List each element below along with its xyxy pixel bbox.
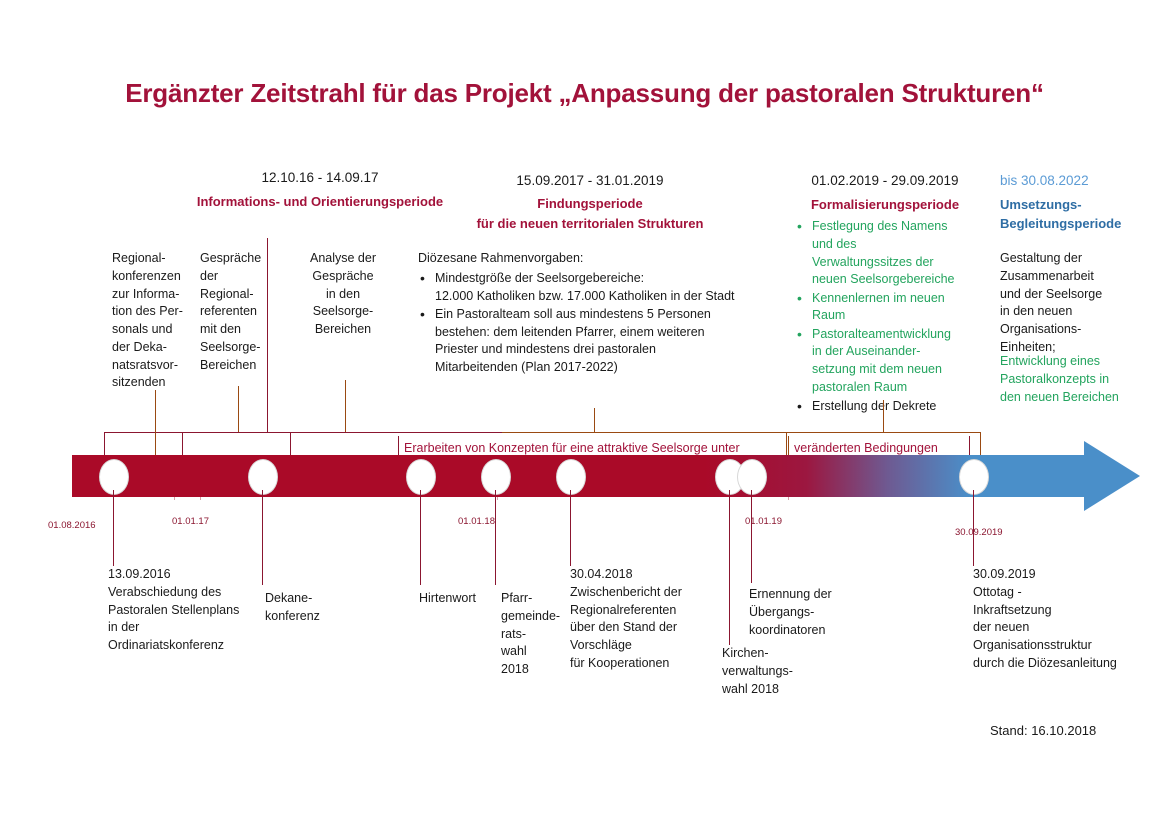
- rahmenvorgaben-bullet-list: Mindestgröße der Seelsorgebereiche: 12.0…: [418, 270, 788, 377]
- riser-analyse: [345, 380, 346, 432]
- riser-informationsperiode: [267, 238, 268, 432]
- riser-rahmenvorgaben: [594, 408, 595, 432]
- column-umsetzung-green: Entwicklung eines Pastoralkonzepts in de…: [1000, 353, 1165, 406]
- leader-uebergangskoordinatoren: [751, 490, 752, 583]
- period-name-umsetzungsperiode-line1: Umsetzungs-: [1000, 197, 1160, 214]
- axis-tick-2019-09-30: 30.09.2019: [955, 527, 1003, 538]
- period-name-umsetzungsperiode-line2: Begleitungsperiode: [1000, 216, 1169, 233]
- leader-ottotag: [973, 490, 974, 566]
- axis-tick-2018-01-01: 01.01.18: [458, 516, 495, 527]
- leader-verabschiedung: [113, 490, 114, 566]
- timeline-arrow-icon: [1084, 441, 1140, 511]
- period-name-findungsperiode-line1: Findungsperiode: [400, 196, 780, 213]
- label-zwischenbericht: 30.04.2018 Zwischenbericht der Regionalr…: [570, 566, 715, 673]
- label-pfarrgemeinderatswahl: Pfarr- gemeinde- rats- wahl 2018: [501, 590, 567, 679]
- period-name-formalisierungsperiode: Formalisierungsperiode: [790, 197, 980, 214]
- page-title: Ergänzter Zeitstrahl für das Projekt „An…: [0, 78, 1169, 109]
- column-formalisierung: Festlegung des Namens und des Verwaltung…: [795, 218, 985, 416]
- bracket-hline-left: [104, 432, 502, 433]
- leader-kirchenverwaltungswahl: [729, 490, 730, 645]
- column-regionalkonferenzen: Regional- konferenzen zur Informa- tion …: [112, 250, 190, 392]
- riser-regionalkonferenzen: [155, 390, 156, 432]
- riser-formalisierung: [883, 400, 884, 432]
- label-dekanekonferenz: Dekane- konferenz: [265, 590, 335, 626]
- axis-tick-2016-08-01: 01.08.2016: [48, 520, 96, 531]
- leader-pfarrgemeinderatswahl: [495, 490, 496, 585]
- list-item: Mindestgröße der Seelsorgebereiche: 12.0…: [435, 270, 788, 306]
- formalisierung-bullet-list: Festlegung des Namens und des Verwaltung…: [795, 218, 985, 397]
- axis-tick-2017-01-01: 01.01.17: [172, 516, 209, 527]
- timeline-bar-container: [0, 455, 1169, 510]
- column-rahmenvorgaben: Diözesane Rahmenvorgaben: Mindestgröße d…: [418, 250, 788, 377]
- label-uebergangskoordinatoren: Ernennung der Übergangs- koordinatoren: [749, 586, 889, 639]
- period-date-umsetzungsperiode: bis 30.08.2022: [1000, 173, 1160, 190]
- formalisierung-bullet-list-black: Erstellung der Dekrete: [795, 398, 985, 416]
- label-verabschiedung: 13.09.2016 Verabschiedung des Pastoralen…: [108, 566, 273, 655]
- list-item: Kennenlernen im neuen Raum: [812, 290, 985, 326]
- period-name-findungsperiode-line2: für die neuen territorialen Strukturen: [400, 216, 780, 233]
- label-kirchenverwaltungswahl: Kirchen- verwaltungs- wahl 2018: [722, 645, 832, 698]
- leader-hirtenwort: [420, 490, 421, 585]
- leader-zwischenbericht: [570, 490, 571, 566]
- list-item: Festlegung des Namens und des Verwaltung…: [812, 218, 985, 289]
- column-umsetzung-black: Gestaltung der Zusammenarbeit und der Se…: [1000, 250, 1160, 357]
- column-analyse: Analyse der Gespräche in den Seelsorge- …: [300, 250, 386, 339]
- banner-text-part2: veränderten Bedingungen: [794, 441, 994, 455]
- label-hirtenwort: Hirtenwort: [419, 590, 499, 608]
- rahmenvorgaben-heading: Diözesane Rahmenvorgaben:: [418, 250, 788, 268]
- bracket-hline-right: [502, 432, 980, 433]
- banner-text-part1: Erarbeiten von Konzepten für eine attrak…: [404, 441, 784, 455]
- period-date-findungsperiode: 15.09.2017 - 31.01.2019: [400, 173, 780, 190]
- list-item: Pastoralteamentwicklung in der Auseinand…: [812, 326, 985, 397]
- label-ottotag: 30.09.2019 Ottotag - Inkraftsetzung der …: [973, 566, 1158, 673]
- list-item: Ein Pastoralteam soll aus mindestens 5 P…: [435, 306, 788, 377]
- list-item: Erstellung der Dekrete: [812, 398, 985, 416]
- stand-date: Stand: 16.10.2018: [990, 723, 1096, 738]
- period-date-formalisierungsperiode: 01.02.2019 - 29.09.2019: [790, 173, 980, 190]
- riser-gespraeche: [238, 386, 239, 432]
